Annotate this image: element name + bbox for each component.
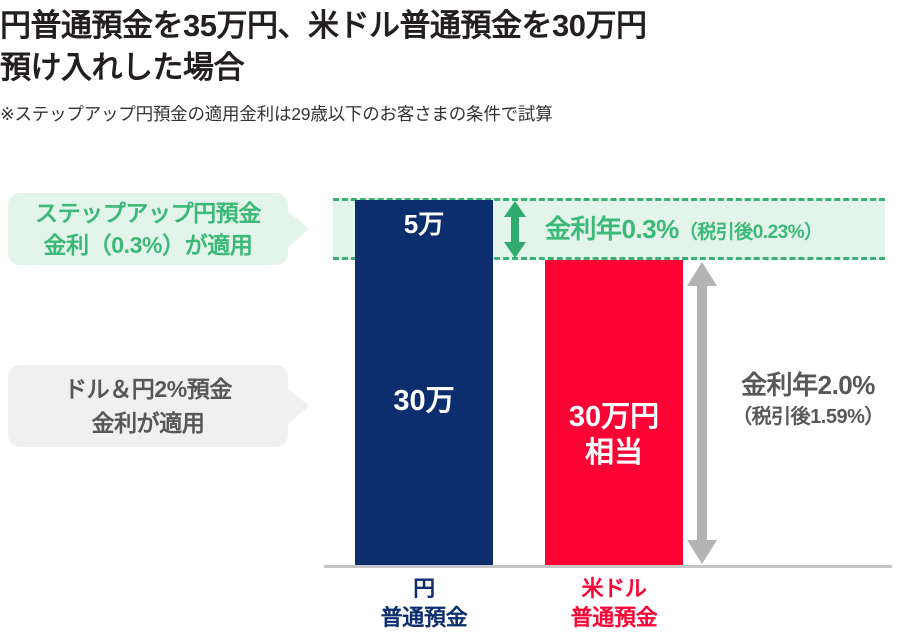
bar-chart: 5万 30万 30万円 相当 金利年0.3%（税引後0.23%） 金利年2.0%… <box>0 150 900 636</box>
bar-yen-savings: 5万 30万 <box>355 200 493 565</box>
rate-annotation-stepup-main: 金利年0.3% <box>545 214 679 244</box>
callout-dollaryen-rate-tail <box>287 387 309 425</box>
rate-annotation-dollaryen-main: 金利年2.0% <box>718 368 898 402</box>
callout-stepup-rate-tail <box>287 210 309 248</box>
bar-yen-top-segment-label: 5万 <box>355 209 493 239</box>
header: 円普通預金を35万円、米ドル普通預金を30万円 預け入れした場合 ※ステップアッ… <box>0 0 900 126</box>
bar-yen-bottom-segment-label: 30万 <box>355 384 493 418</box>
page-subtitle: ※ステップアップ円預金の適用金利は29歳以下のお客さまの条件で試算 <box>0 102 900 126</box>
axis-baseline <box>324 565 892 568</box>
axis-label-usd-savings: 米ドル 普通預金 <box>514 574 714 632</box>
callout-dollaryen-rate: ドル＆円2%預金 金利が適用 <box>8 365 288 447</box>
page-title: 円普通預金を35万円、米ドル普通預金を30万円 預け入れした場合 <box>0 0 900 89</box>
bar-usd-label: 30万円 相当 <box>545 399 683 471</box>
bar-usd-savings: 30万円 相当 <box>545 260 683 565</box>
double-arrow-vertical-icon <box>500 200 530 259</box>
axis-label-yen-savings: 円 普通預金 <box>324 574 524 632</box>
rate-annotation-stepup: 金利年0.3%（税引後0.23%） <box>545 212 885 250</box>
rate-annotation-dollaryen: 金利年2.0% （税引後1.59%） <box>718 368 898 432</box>
rate-annotation-stepup-aftertax: （税引後0.23%） <box>679 222 823 243</box>
rate-annotation-dollaryen-aftertax: （税引後1.59%） <box>718 402 898 432</box>
callout-stepup-rate: ステップアップ円預金 金利（0.3%）が適用 <box>8 193 288 265</box>
double-arrow-vertical-icon <box>685 260 719 566</box>
